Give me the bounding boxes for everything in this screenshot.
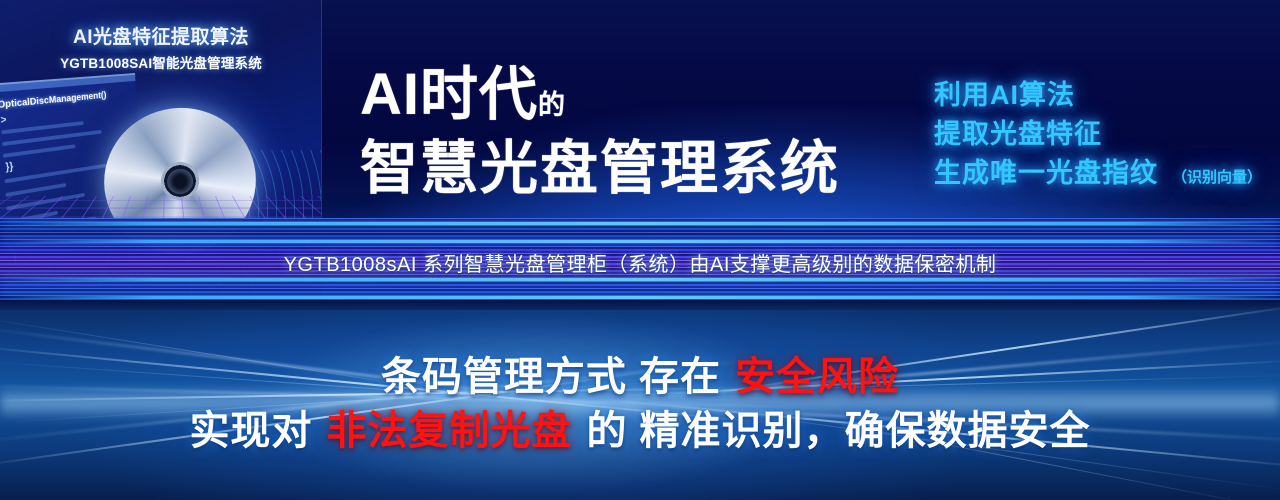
product-panel-subtitle: YGTB1008SAI智能光盘管理系统 [0,52,322,72]
code-brace: }} [5,160,14,173]
bottom-line1-part1: 条码管理方式 存在 [381,355,721,399]
code-window-label: OpticalDiscManagement() [0,90,107,111]
hero-headline: AI时代的 智慧光盘管理系统 [360,66,920,198]
headline-line1-main: AI时代 [360,62,538,127]
bottom-line2-highlight: 非法复制光盘 [326,409,572,453]
feature-bullet-1: 利用AI算法 [934,76,1280,115]
code-window-titlebar [0,75,135,93]
headline-line-1: AI时代的 [360,66,920,124]
feature-bullet-3: 生成唯一光盘指纹（识别向量） [934,154,1280,193]
band-caption: YGTB1008sAI 系列智慧光盘管理柜（系统）由AI支撑更高级别的数据保密机… [0,248,1280,277]
bottom-top-edge [0,300,1280,310]
feature-bullet-3-note: （识别向量） [1172,169,1262,186]
bottom-line2-part2: 的 精准识别，确保数据安全 [586,409,1090,453]
bottom-message-line-2: 实现对非法复制光盘的 精准识别，确保数据安全 [0,398,1280,456]
promo-banner: 01001100 10110 0101 1011 01001 110100 01… [0,0,1280,500]
headline-line-2: 智慧光盘管理系统 [360,140,920,198]
feature-bullet-list: 利用AI算法 提取光盘特征 生成唯一光盘指纹（识别向量） [934,76,1280,193]
band-neon-line [0,222,1280,225]
product-panel-title: AI光盘特征提取算法 [0,22,322,49]
band-neon-line [0,240,1280,243]
headline-line1-suffix: 的 [538,90,566,120]
bottom-line1-highlight: 安全风险 [735,355,899,399]
code-brace: > [0,114,7,126]
band-neon-line [0,296,1280,299]
feature-bullet-3-text: 生成唯一光盘指纹 [934,158,1158,188]
feature-bullet-2: 提取光盘特征 [934,115,1280,154]
bottom-line2-part1: 实现对 [189,409,312,453]
bottom-message-line-1: 条码管理方式 存在安全风险 [0,344,1280,402]
band-neon-line [0,278,1280,281]
